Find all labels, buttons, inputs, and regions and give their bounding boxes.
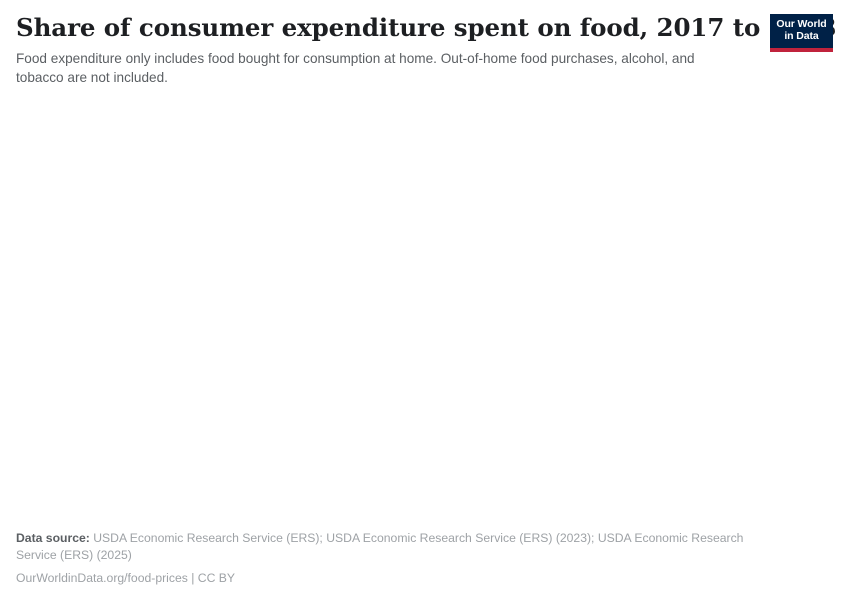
chart-header: Share of consumer expenditure spent on f… bbox=[0, 0, 850, 87]
chart-body bbox=[16, 87, 834, 530]
chart-subtitle: Food expenditure only includes food boug… bbox=[16, 50, 742, 87]
plot-area[interactable] bbox=[16, 87, 834, 530]
license-line[interactable]: OurWorldinData.org/food-prices | CC BY bbox=[16, 570, 834, 586]
data-source-line: Data source: USDA Economic Research Serv… bbox=[16, 530, 756, 563]
data-source-label: Data source: bbox=[16, 531, 90, 545]
our-world-in-data-logo[interactable]: Our World in Data bbox=[770, 14, 833, 52]
chart-footer: Data source: USDA Economic Research Serv… bbox=[0, 530, 850, 600]
data-source-text: USDA Economic Research Service (ERS); US… bbox=[16, 531, 743, 561]
logo-text: Our World in Data bbox=[776, 19, 826, 42]
header-text-block: Share of consumer expenditure spent on f… bbox=[16, 13, 761, 87]
owid-chart-embed: Share of consumer expenditure spent on f… bbox=[0, 0, 850, 600]
page-title: Share of consumer expenditure spent on f… bbox=[16, 13, 761, 43]
